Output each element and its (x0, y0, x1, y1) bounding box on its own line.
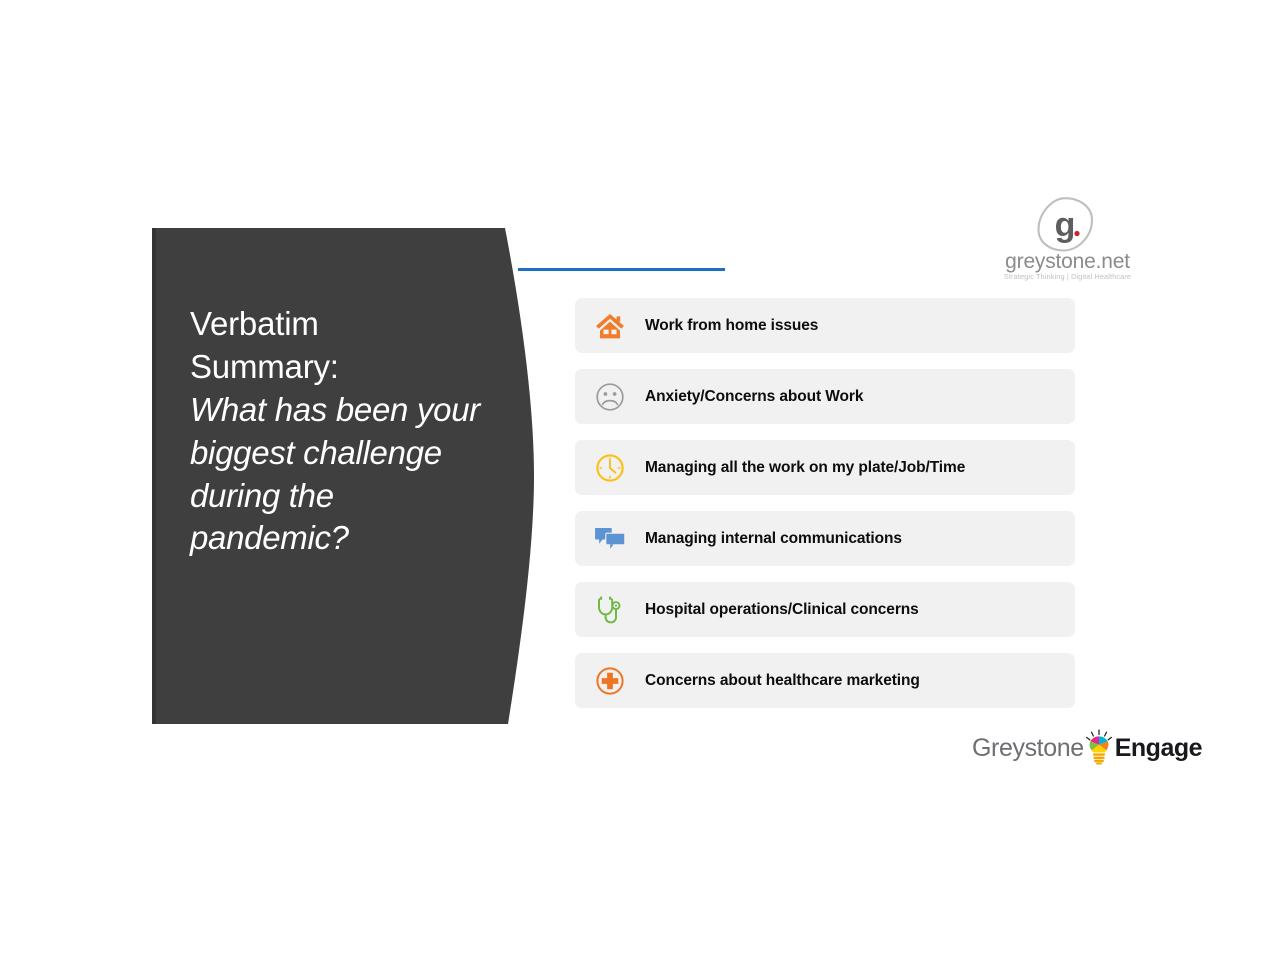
greystone-wordmark: greystone.net (995, 251, 1140, 272)
greystone-engage-logo: Greystone (972, 730, 1202, 766)
list-item[interactable]: Work from home issues (575, 298, 1075, 353)
list-item-label: Anxiety/Concerns about Work (645, 388, 863, 406)
engage-word-engage: Engage (1115, 736, 1202, 761)
list-item[interactable]: Concerns about healthcare marketing (575, 653, 1075, 708)
greystone-g-mark-icon: g (1030, 196, 1100, 254)
chat-bubbles-icon (575, 511, 645, 566)
medical-cross-icon (575, 653, 645, 708)
engage-word-greystone: Greystone (972, 736, 1084, 761)
list-item[interactable]: Hospital operations/Clinical concerns (575, 582, 1075, 637)
clock-icon (575, 440, 645, 495)
challenge-list: Work from home issues Anxiety/Concerns a… (575, 298, 1075, 708)
list-item-label: Work from home issues (645, 317, 818, 335)
list-item[interactable]: Anxiety/Concerns about Work (575, 369, 1075, 424)
accent-rule (518, 268, 725, 271)
panel-text-block: Verbatim Summary: What has been your big… (190, 303, 480, 560)
title-panel: Verbatim Summary: What has been your big… (150, 226, 540, 726)
page-title: Verbatim Summary: (190, 303, 480, 389)
list-item[interactable]: Managing all the work on my plate/Job/Ti… (575, 440, 1075, 495)
list-item[interactable]: Managing internal communications (575, 511, 1075, 566)
list-item-label: Hospital operations/Clinical concerns (645, 601, 919, 619)
list-item-label: Managing all the work on my plate/Job/Ti… (645, 459, 965, 477)
svg-text:g: g (1055, 206, 1076, 244)
greystone-logo: g greystone.net Strategic Thinking | Dig… (995, 196, 1140, 288)
list-item-label: Concerns about healthcare marketing (645, 672, 920, 690)
stethoscope-icon (575, 582, 645, 637)
house-icon (575, 298, 645, 353)
greystone-tagline: Strategic Thinking | Digital Healthcare (995, 273, 1140, 280)
panel-question: What has been your biggest challenge dur… (190, 389, 480, 561)
slide-canvas: Verbatim Summary: What has been your big… (0, 0, 1280, 960)
list-item-label: Managing internal communications (645, 530, 902, 548)
lightbulb-icon (1082, 729, 1116, 765)
sad-face-icon (575, 369, 645, 424)
